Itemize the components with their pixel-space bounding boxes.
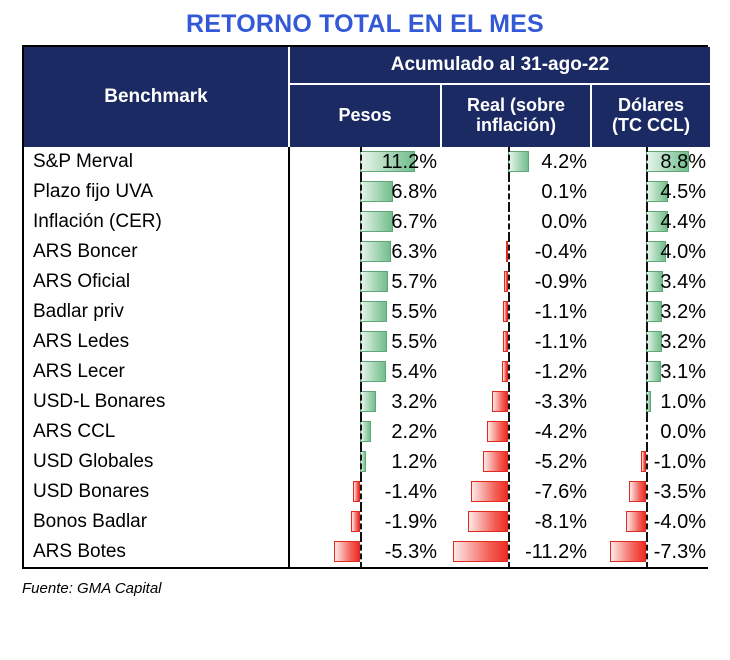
zero-axis-line bbox=[646, 267, 648, 297]
zero-axis-line bbox=[508, 537, 510, 567]
value-cell: 5.7% bbox=[289, 267, 441, 297]
table-row: ARS Botes-5.3%-11.2%-7.3% bbox=[24, 537, 710, 567]
table-row: Inflación (CER)6.7%0.0%4.4% bbox=[24, 207, 710, 237]
positive-bar bbox=[508, 151, 529, 172]
value-cell: -4.2% bbox=[441, 417, 591, 447]
table-row: S&P Merval11.2%4.2%8.8% bbox=[24, 147, 710, 177]
zero-axis-line bbox=[360, 417, 362, 447]
column-header-real-line1: Real (sobre bbox=[467, 95, 565, 115]
zero-axis-line bbox=[508, 207, 510, 237]
zero-axis-line bbox=[360, 237, 362, 267]
benchmark-name-cell: S&P Merval bbox=[24, 147, 289, 177]
value-cell: -8.1% bbox=[441, 507, 591, 537]
value-label: 1.2% bbox=[391, 447, 437, 477]
positive-bar bbox=[646, 301, 662, 322]
column-header-dolares-line2: (TC CCL) bbox=[612, 115, 690, 135]
table-row: ARS Boncer6.3%-0.4%4.0% bbox=[24, 237, 710, 267]
benchmark-name-cell: ARS Lecer bbox=[24, 357, 289, 387]
table-row: ARS Ledes5.5%-1.1%3.2% bbox=[24, 327, 710, 357]
value-label: 3.2% bbox=[660, 327, 706, 357]
positive-bar bbox=[360, 391, 376, 412]
zero-axis-line bbox=[508, 147, 510, 177]
value-cell: 1.0% bbox=[591, 387, 710, 417]
value-cell: -1.0% bbox=[591, 447, 710, 477]
value-label: 11.2% bbox=[382, 147, 437, 177]
value-cell: 4.0% bbox=[591, 237, 710, 267]
benchmark-name-cell: ARS Oficial bbox=[24, 267, 289, 297]
zero-axis-line bbox=[508, 387, 510, 417]
zero-axis-line bbox=[360, 267, 362, 297]
value-cell: 1.2% bbox=[289, 447, 441, 477]
value-cell: 11.2% bbox=[289, 147, 441, 177]
value-cell: -4.0% bbox=[591, 507, 710, 537]
value-label: -7.6% bbox=[535, 477, 587, 507]
zero-axis-line bbox=[646, 387, 648, 417]
zero-axis-line bbox=[360, 357, 362, 387]
value-cell: -7.6% bbox=[441, 477, 591, 507]
zero-axis-line bbox=[360, 447, 362, 477]
value-cell: -1.2% bbox=[441, 357, 591, 387]
benchmark-name-cell: ARS CCL bbox=[24, 417, 289, 447]
negative-bar bbox=[353, 481, 360, 502]
zero-axis-line bbox=[646, 177, 648, 207]
negative-bar bbox=[468, 511, 508, 532]
value-label: 4.4% bbox=[660, 207, 706, 237]
value-cell: 8.8% bbox=[591, 147, 710, 177]
zero-axis-line bbox=[646, 447, 648, 477]
value-label: -1.4% bbox=[385, 477, 437, 507]
value-cell: 4.5% bbox=[591, 177, 710, 207]
negative-bar bbox=[626, 511, 646, 532]
value-label: -5.3% bbox=[385, 537, 437, 567]
column-header-pesos-label: Pesos bbox=[338, 105, 391, 125]
value-label: 3.4% bbox=[660, 267, 706, 297]
value-label: -3.5% bbox=[654, 477, 706, 507]
value-cell: 5.5% bbox=[289, 297, 441, 327]
zero-axis-line bbox=[646, 417, 648, 447]
positive-bar bbox=[360, 361, 386, 382]
zero-axis-line bbox=[646, 327, 648, 357]
value-label: 5.7% bbox=[391, 267, 437, 297]
table-row: Plazo fijo UVA6.8%0.1%4.5% bbox=[24, 177, 710, 207]
table-row: ARS Oficial5.7%-0.9%3.4% bbox=[24, 267, 710, 297]
zero-axis-line bbox=[360, 387, 362, 417]
column-header-real: Real (sobre inflación) bbox=[441, 84, 591, 147]
positive-bar bbox=[646, 331, 662, 352]
negative-bar bbox=[487, 421, 508, 442]
value-cell: -1.4% bbox=[289, 477, 441, 507]
benchmark-name-cell: USD Globales bbox=[24, 447, 289, 477]
zero-axis-line bbox=[646, 507, 648, 537]
value-label: 0.0% bbox=[660, 417, 706, 447]
zero-axis-line bbox=[646, 237, 648, 267]
zero-axis-line bbox=[508, 417, 510, 447]
benchmark-name-cell: Bonos Badlar bbox=[24, 507, 289, 537]
zero-axis-line bbox=[646, 147, 648, 177]
value-label: -0.9% bbox=[535, 267, 587, 297]
value-cell: -5.3% bbox=[289, 537, 441, 567]
value-cell: -3.3% bbox=[441, 387, 591, 417]
value-cell: -1.9% bbox=[289, 507, 441, 537]
value-label: -3.3% bbox=[535, 387, 587, 417]
value-cell: -5.2% bbox=[441, 447, 591, 477]
value-label: -1.9% bbox=[385, 507, 437, 537]
zero-axis-line bbox=[646, 537, 648, 567]
benchmark-name-cell: Badlar priv bbox=[24, 297, 289, 327]
negative-bar bbox=[629, 481, 646, 502]
value-label: 4.2% bbox=[541, 147, 587, 177]
value-cell: -0.9% bbox=[441, 267, 591, 297]
benchmark-name-cell: ARS Boncer bbox=[24, 237, 289, 267]
value-cell: 3.4% bbox=[591, 267, 710, 297]
value-label: 3.1% bbox=[660, 357, 706, 387]
value-label: -4.2% bbox=[535, 417, 587, 447]
zero-axis-line bbox=[508, 177, 510, 207]
negative-bar bbox=[351, 511, 360, 532]
column-header-dolares: Dólares (TC CCL) bbox=[591, 84, 710, 147]
value-cell: 6.3% bbox=[289, 237, 441, 267]
value-cell: -3.5% bbox=[591, 477, 710, 507]
zero-axis-line bbox=[508, 477, 510, 507]
zero-axis-line bbox=[508, 447, 510, 477]
zero-axis-line bbox=[360, 477, 362, 507]
table-row: ARS CCL2.2%-4.2%0.0% bbox=[24, 417, 710, 447]
zero-axis-line bbox=[508, 357, 510, 387]
positive-bar bbox=[360, 271, 388, 292]
zero-axis-line bbox=[360, 147, 362, 177]
table-row: ARS Lecer5.4%-1.2%3.1% bbox=[24, 357, 710, 387]
value-label: -7.3% bbox=[654, 537, 706, 567]
value-cell: 0.0% bbox=[441, 207, 591, 237]
negative-bar bbox=[610, 541, 646, 562]
column-header-pesos: Pesos bbox=[289, 84, 441, 147]
zero-axis-line bbox=[508, 267, 510, 297]
value-label: 5.5% bbox=[391, 327, 437, 357]
positive-bar bbox=[360, 241, 391, 262]
positive-bar bbox=[360, 331, 387, 352]
value-cell: 0.0% bbox=[591, 417, 710, 447]
benchmark-name-cell: USD-L Bonares bbox=[24, 387, 289, 417]
table-row: USD Globales1.2%-5.2%-1.0% bbox=[24, 447, 710, 477]
negative-bar bbox=[483, 451, 508, 472]
value-label: -8.1% bbox=[535, 507, 587, 537]
value-label: 5.5% bbox=[391, 297, 437, 327]
page-title: RETORNO TOTAL EN EL MES bbox=[0, 0, 730, 45]
table-row: USD Bonares-1.4%-7.6%-3.5% bbox=[24, 477, 710, 507]
zero-axis-line bbox=[360, 177, 362, 207]
zero-axis-line bbox=[360, 207, 362, 237]
value-cell: 2.2% bbox=[289, 417, 441, 447]
zero-axis-line bbox=[508, 297, 510, 327]
value-label: -1.2% bbox=[535, 357, 587, 387]
value-label: 6.3% bbox=[391, 237, 437, 267]
value-label: -11.2% bbox=[525, 537, 587, 567]
zero-axis-line bbox=[360, 297, 362, 327]
value-cell: 3.2% bbox=[591, 327, 710, 357]
value-label: 8.8% bbox=[660, 147, 706, 177]
benchmark-name-cell: Inflación (CER) bbox=[24, 207, 289, 237]
value-label: 4.5% bbox=[660, 177, 706, 207]
zero-axis-line bbox=[646, 357, 648, 387]
value-cell: 4.4% bbox=[591, 207, 710, 237]
value-label: 3.2% bbox=[391, 387, 437, 417]
value-label: 4.0% bbox=[660, 237, 706, 267]
zero-axis-line bbox=[646, 297, 648, 327]
value-label: 6.7% bbox=[391, 207, 437, 237]
zero-axis-line bbox=[508, 327, 510, 357]
value-label: 6.8% bbox=[391, 177, 437, 207]
negative-bar bbox=[492, 391, 508, 412]
column-header-dolares-line1: Dólares bbox=[618, 95, 684, 115]
benchmark-name-cell: ARS Ledes bbox=[24, 327, 289, 357]
value-cell: 5.5% bbox=[289, 327, 441, 357]
source-note: Fuente: GMA Capital bbox=[22, 580, 730, 597]
column-header-group-acumulado: Acumulado al 31-ago-22 bbox=[289, 47, 710, 84]
zero-axis-line bbox=[508, 237, 510, 267]
positive-bar bbox=[360, 301, 387, 322]
column-header-real-line2: inflación) bbox=[476, 115, 556, 135]
table-row: Badlar priv5.5%-1.1%3.2% bbox=[24, 297, 710, 327]
value-label: -0.4% bbox=[535, 237, 587, 267]
zero-axis-line bbox=[646, 477, 648, 507]
value-label: -4.0% bbox=[654, 507, 706, 537]
positive-bar bbox=[360, 181, 393, 202]
negative-bar bbox=[471, 481, 508, 502]
value-cell: 5.4% bbox=[289, 357, 441, 387]
benchmark-name-cell: Plazo fijo UVA bbox=[24, 177, 289, 207]
value-label: 5.4% bbox=[391, 357, 437, 387]
value-cell: -7.3% bbox=[591, 537, 710, 567]
returns-table: Benchmark Acumulado al 31-ago-22 Pesos R… bbox=[24, 47, 710, 567]
value-label: -1.1% bbox=[535, 327, 587, 357]
value-label: 1.0% bbox=[660, 387, 706, 417]
zero-axis-line bbox=[360, 327, 362, 357]
value-label: 0.1% bbox=[541, 177, 587, 207]
table-row: USD-L Bonares3.2%-3.3%1.0% bbox=[24, 387, 710, 417]
value-cell: 4.2% bbox=[441, 147, 591, 177]
zero-axis-line bbox=[646, 207, 648, 237]
value-cell: 3.1% bbox=[591, 357, 710, 387]
negative-bar bbox=[453, 541, 508, 562]
positive-bar bbox=[646, 361, 661, 382]
negative-bar bbox=[334, 541, 360, 562]
zero-axis-line bbox=[508, 507, 510, 537]
value-label: -1.0% bbox=[654, 447, 706, 477]
positive-bar bbox=[360, 211, 393, 232]
zero-axis-line bbox=[360, 507, 362, 537]
value-cell: 3.2% bbox=[289, 387, 441, 417]
value-cell: -11.2% bbox=[441, 537, 591, 567]
value-cell: 6.7% bbox=[289, 207, 441, 237]
value-cell: -1.1% bbox=[441, 327, 591, 357]
value-label: 3.2% bbox=[660, 297, 706, 327]
value-cell: 3.2% bbox=[591, 297, 710, 327]
table-head: Benchmark Acumulado al 31-ago-22 Pesos R… bbox=[24, 47, 710, 147]
returns-table-container: Benchmark Acumulado al 31-ago-22 Pesos R… bbox=[22, 45, 708, 569]
benchmark-name-cell: ARS Botes bbox=[24, 537, 289, 567]
value-label: -5.2% bbox=[535, 447, 587, 477]
value-label: 0.0% bbox=[541, 207, 587, 237]
value-cell: -1.1% bbox=[441, 297, 591, 327]
value-cell: 6.8% bbox=[289, 177, 441, 207]
table-body: S&P Merval11.2%4.2%8.8%Plazo fijo UVA6.8… bbox=[24, 147, 710, 567]
zero-axis-line bbox=[360, 537, 362, 567]
benchmark-name-cell: USD Bonares bbox=[24, 477, 289, 507]
value-cell: 0.1% bbox=[441, 177, 591, 207]
table-row: Bonos Badlar-1.9%-8.1%-4.0% bbox=[24, 507, 710, 537]
column-header-benchmark: Benchmark bbox=[24, 47, 289, 147]
value-label: 2.2% bbox=[391, 417, 437, 447]
value-label: -1.1% bbox=[535, 297, 587, 327]
value-cell: -0.4% bbox=[441, 237, 591, 267]
